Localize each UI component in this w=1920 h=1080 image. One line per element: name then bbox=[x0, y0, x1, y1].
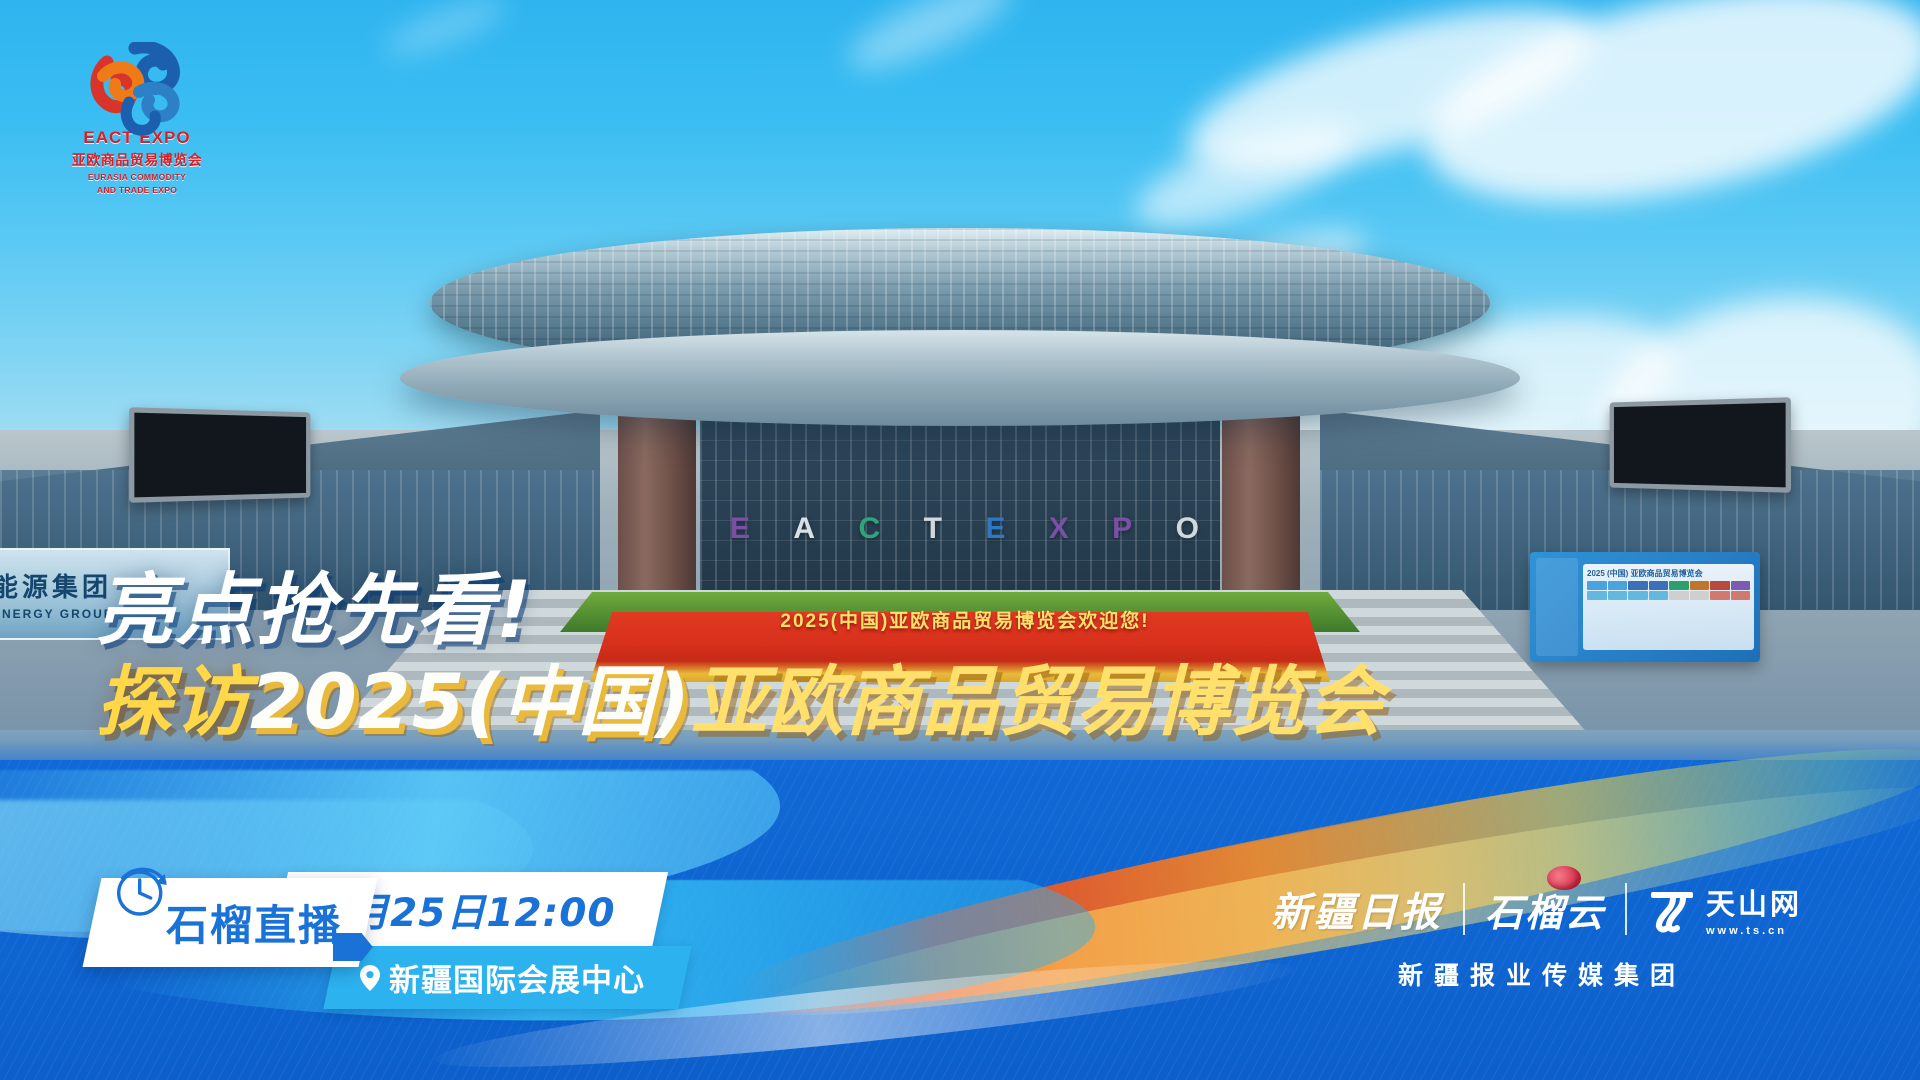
headline-line-2-part-3: 亚欧商品贸易博览会 bbox=[691, 657, 1384, 746]
live-location-band: 新疆国际会展中心 bbox=[323, 946, 691, 1009]
media-logo-tianshan: 天山网 www.ts.cn bbox=[1647, 881, 1802, 937]
location-pin-icon bbox=[360, 965, 380, 991]
tianshan-text-col: 天山网 www.ts.cn bbox=[1706, 881, 1802, 937]
venue-pillar-right bbox=[1222, 400, 1300, 590]
venue-pillar-left bbox=[618, 400, 696, 590]
live-location-text: 新疆国际会展中心 bbox=[389, 955, 645, 1000]
signboard-cell bbox=[1669, 591, 1689, 600]
led-screen-left bbox=[129, 407, 310, 503]
signboard-cell bbox=[1628, 591, 1648, 600]
media-divider bbox=[1625, 883, 1627, 935]
expo-letter: T bbox=[924, 512, 943, 546]
promotional-banner: 能源集团 ENERGY GROUP 2025 (中国) 亚欧商品贸易博览会 bbox=[0, 0, 1920, 1080]
expo-logo-name-en-1: EURASIA COMMODITY bbox=[62, 172, 212, 183]
signboard-cell bbox=[1710, 581, 1730, 590]
signboard-cell bbox=[1690, 581, 1710, 590]
expo-letter: X bbox=[1049, 512, 1070, 546]
signboard-cell bbox=[1731, 581, 1751, 590]
play-icon[interactable] bbox=[333, 933, 373, 961]
signboard-cell bbox=[1669, 581, 1689, 590]
signboard-cell bbox=[1587, 581, 1607, 590]
headline-line-2-part-1: 探访 bbox=[96, 657, 250, 746]
signboard-hall-grid bbox=[1587, 581, 1750, 600]
signboard-cell bbox=[1608, 581, 1628, 590]
expo-logo-mark-icon bbox=[77, 42, 197, 138]
media-group-name: 新疆报业传媒集团 bbox=[1271, 956, 1802, 992]
signboard-cell bbox=[1710, 591, 1730, 600]
media-logo-shiliuyun: 石榴云 bbox=[1485, 882, 1605, 937]
media-logo-xinjiang-daily: 新疆日报 bbox=[1271, 880, 1443, 938]
expo-letter: E bbox=[985, 512, 1006, 546]
expo-letter: A bbox=[793, 512, 816, 546]
venue-dome-rim bbox=[400, 330, 1520, 426]
headline-line-2: 探访2025(中国)亚欧商品贸易博览会 bbox=[96, 664, 1384, 740]
live-channel-badge[interactable]: 石榴直播 bbox=[83, 878, 378, 967]
expo-logo-name-en-2: AND TRADE EXPO bbox=[62, 185, 212, 196]
media-logo-tianshan-url: www.ts.cn bbox=[1706, 925, 1802, 937]
expo-letter: E bbox=[730, 512, 751, 546]
live-badge-block: 石榴直播 bbox=[92, 878, 368, 967]
pomegranate-icon bbox=[1547, 866, 1581, 890]
headline-block: 亮点抢先看! 探访2025(中国)亚欧商品贸易博览会 bbox=[96, 572, 1384, 740]
signboard-cell bbox=[1608, 591, 1628, 600]
expo-letter: C bbox=[859, 512, 882, 546]
headline-line-2-part-2: 2025(中国) bbox=[250, 657, 691, 746]
expo-letter: P bbox=[1112, 512, 1133, 546]
signboard-cell bbox=[1649, 581, 1669, 590]
signboard-cell bbox=[1690, 591, 1710, 600]
signboard-map-panel: 2025 (中国) 亚欧商品贸易博览会 bbox=[1583, 564, 1754, 650]
signboard-cell bbox=[1628, 581, 1648, 590]
signboard-cell bbox=[1587, 591, 1607, 600]
live-badge-label: 石榴直播 bbox=[166, 892, 342, 953]
venue-directory-signboard: 2025 (中国) 亚欧商品贸易博览会 bbox=[1530, 552, 1760, 662]
expo-letter: O bbox=[1176, 512, 1200, 546]
media-logo-row: 新疆日报 石榴云 天山网 www.ts.cn bbox=[1271, 880, 1802, 938]
cloud-shape bbox=[378, 0, 511, 67]
cloud-shape bbox=[838, 0, 1022, 86]
venue-expo-letters: E A C T E X P O bbox=[730, 512, 1200, 546]
media-logo-tianshan-text: 天山网 bbox=[1706, 881, 1802, 923]
signboard-cell bbox=[1649, 591, 1669, 600]
clock-icon bbox=[113, 862, 171, 920]
eact-expo-logo: EACT EXPO 亚欧商品贸易博览会 EURASIA COMMODITY AN… bbox=[62, 42, 212, 195]
led-screen-right bbox=[1610, 397, 1791, 493]
venue-facade-glass bbox=[700, 400, 1220, 590]
signboard-cell bbox=[1731, 591, 1751, 600]
media-partners-block: 新疆日报 石榴云 天山网 www.ts.cn bbox=[1271, 880, 1802, 992]
expo-logo-name-cn: 亚欧商品贸易博览会 bbox=[62, 150, 212, 170]
headline-line-1: 亮点抢先看! bbox=[96, 572, 1384, 650]
signboard-mascot-panel bbox=[1536, 558, 1578, 656]
tianshan-mark-icon bbox=[1647, 884, 1699, 934]
media-logo-shiliuyun-text: 石榴云 bbox=[1485, 882, 1605, 937]
signboard-title: 2025 (中国) 亚欧商品贸易博览会 bbox=[1587, 568, 1750, 579]
media-divider bbox=[1463, 883, 1465, 935]
